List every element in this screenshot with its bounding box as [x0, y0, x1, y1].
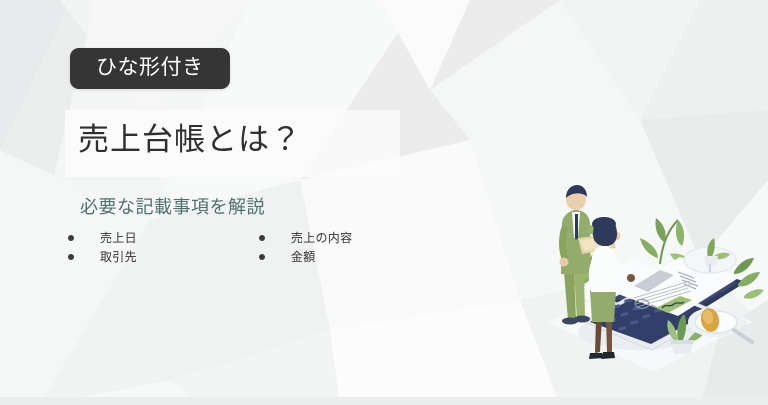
bullet-column-left: 売上日 取引先	[68, 230, 137, 265]
plant-leaves-right	[734, 258, 764, 299]
list-item: 売上日	[68, 230, 137, 246]
list-item-label: 売上日	[100, 230, 137, 246]
bullet-dot-icon	[259, 254, 265, 260]
template-included-badge: ひな形付き	[70, 48, 230, 89]
list-item-label: 取引先	[100, 249, 137, 265]
bullet-dot-icon	[259, 235, 265, 241]
key-points-list: 売上日 取引先 売上の内容 金額	[68, 230, 352, 265]
bullet-dot-icon	[68, 254, 74, 260]
list-item: 売上の内容	[259, 230, 353, 246]
bullet-column-right: 売上の内容 金額	[259, 230, 353, 265]
page-subtitle: 必要な記載事項を解説	[80, 196, 265, 219]
bullet-dot-icon	[68, 235, 74, 241]
bottom-divider	[0, 397, 768, 405]
list-item-label: 売上の内容	[291, 230, 353, 246]
hero-illustration	[538, 172, 768, 377]
isometric-business-scene-icon	[538, 172, 768, 377]
round-tray-with-plant	[684, 238, 736, 273]
slide-canvas: ひな形付き 売上台帳とは？ 必要な記載事項を解説 売上日 取引先 売上の内容 金…	[0, 0, 768, 405]
page-title: 売上台帳とは？	[78, 118, 302, 161]
list-item-label: 金額	[291, 249, 316, 265]
list-item: 金額	[259, 249, 353, 265]
list-item: 取引先	[68, 249, 137, 265]
